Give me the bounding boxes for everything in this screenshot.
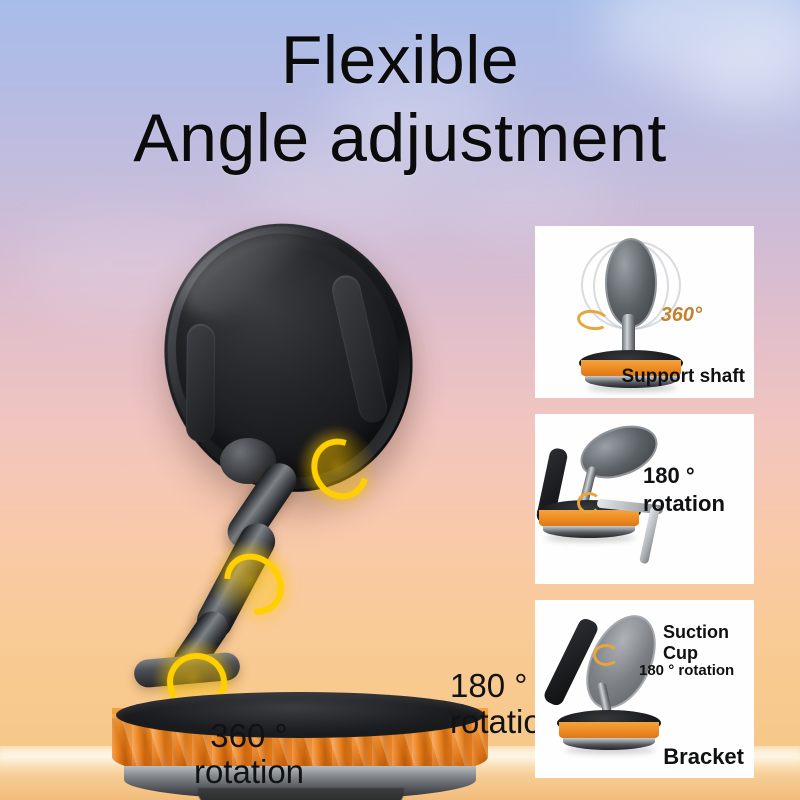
mini-shadow <box>565 746 655 754</box>
headline-line-1: Flexible <box>0 24 800 96</box>
mini-shadow <box>545 534 635 542</box>
label-left-caption: rotation <box>164 754 334 790</box>
product-infographic: Flexible Angle adjustment <box>0 0 800 800</box>
page-title: Flexible Angle adjustment <box>0 24 800 174</box>
panel-suction-cup-bracket[interactable]: Suction Cup 180 ° rotation Bracket <box>535 600 754 778</box>
panel-caption-rotation: 180 ° rotation <box>639 662 734 679</box>
headline-line-2: Angle adjustment <box>0 102 800 174</box>
product-illustration-main: 360 ° rotation 180 ° rotation 180 ° rota… <box>90 200 510 780</box>
label-left-value: 360 ° <box>164 718 334 754</box>
label-left-rotation: 360 ° rotation <box>164 718 334 789</box>
panel-180-rotation[interactable]: 180 ° rotation <box>535 414 754 584</box>
panel-degree-label: 180 ° <box>643 462 725 490</box>
panel-degree-block: 180 ° rotation <box>643 462 725 517</box>
phone-holder-head <box>150 205 441 505</box>
panel-caption-bracket: Bracket <box>663 744 744 770</box>
panel-support-shaft[interactable]: 360° Support shaft <box>535 226 754 398</box>
rotation-arc-icon <box>593 644 619 666</box>
panel-caption-support-shaft: Support shaft <box>622 366 746 388</box>
panel-degree-label: 360° <box>661 304 702 327</box>
rotation-arc-icon <box>577 492 601 514</box>
panel-caption-suction-cup: Suction Cup <box>663 622 754 664</box>
head-grip-slot-left <box>186 323 216 442</box>
panel-degree-caption: rotation <box>643 490 725 518</box>
